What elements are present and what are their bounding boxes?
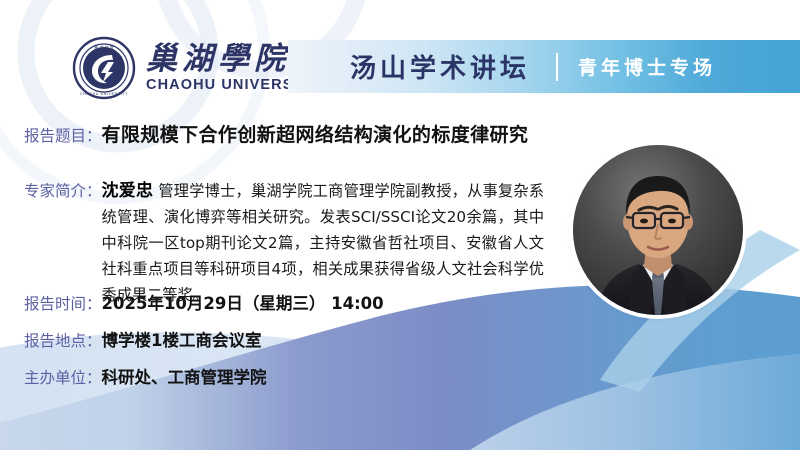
- report-time-row: 报告时间： 2025年10月29日（星期三） 14:00: [24, 290, 384, 314]
- report-host-row: 主办单位： 科研处、工商管理学院: [24, 364, 267, 388]
- report-place-row: 报告地点： 博学楼1楼工商会议室: [24, 327, 262, 351]
- svg-text:CHAOHU UNIVERSITY: CHAOHU UNIVERSITY: [80, 92, 128, 96]
- speaker-bio-label: 专家简介：: [24, 178, 102, 204]
- university-seal-icon: 巢 湖 学 院 CHAOHU UNIVERSITY: [72, 36, 136, 100]
- university-logo-block: 巢 湖 学 院 CHAOHU UNIVERSITY 巢湖學院 CHAOHU UN…: [72, 36, 319, 100]
- speaker-photo: [573, 145, 743, 315]
- speaker-bio-row: 专家简介： 沈爱忠 管理学博士，巢湖学院工商管理学院副教授，从事复杂系统管理、演…: [24, 178, 544, 308]
- banner-main-title: 汤山学术讲坛: [350, 48, 530, 85]
- report-place-label: 报告地点：: [24, 329, 102, 351]
- report-time-label: 报告时间：: [24, 292, 102, 314]
- banner-divider: [556, 53, 558, 81]
- poster-header: 巢 湖 学 院 CHAOHU UNIVERSITY 巢湖學院 CHAOHU UN…: [0, 0, 800, 105]
- speaker-bio-text: 沈爱忠 管理学博士，巢湖学院工商管理学院副教授，从事复杂系统管理、演化博弈等相关…: [102, 178, 544, 308]
- report-place-value: 博学楼1楼工商会议室: [102, 327, 262, 351]
- report-time-value: 2025年10月29日（星期三） 14:00: [102, 290, 384, 314]
- speaker-portrait: [573, 145, 743, 315]
- report-host-value: 科研处、工商管理学院: [102, 364, 267, 388]
- svg-text:巢 湖 学 院: 巢 湖 学 院: [94, 44, 114, 50]
- seminar-poster: 巢 湖 学 院 CHAOHU UNIVERSITY 巢湖學院 CHAOHU UN…: [0, 0, 800, 450]
- report-host-label: 主办单位：: [24, 366, 102, 388]
- speaker-bio-body: 管理学博士，巢湖学院工商管理学院副教授，从事复杂系统管理、演化博弈等相关研究。发…: [102, 182, 545, 304]
- report-title-value: 有限规模下合作创新超网络结构演化的标度律研究: [102, 120, 529, 147]
- banner-sub-title: 青年博士专场: [578, 53, 716, 80]
- report-title-row: 报告题目： 有限规模下合作创新超网络结构演化的标度律研究: [24, 120, 528, 147]
- wave-bottom-right: [470, 352, 800, 450]
- lecture-series-banner: 汤山学术讲坛 青年博士专场: [288, 40, 800, 93]
- report-title-label: 报告题目：: [24, 124, 102, 146]
- speaker-name: 沈爱忠: [102, 181, 154, 201]
